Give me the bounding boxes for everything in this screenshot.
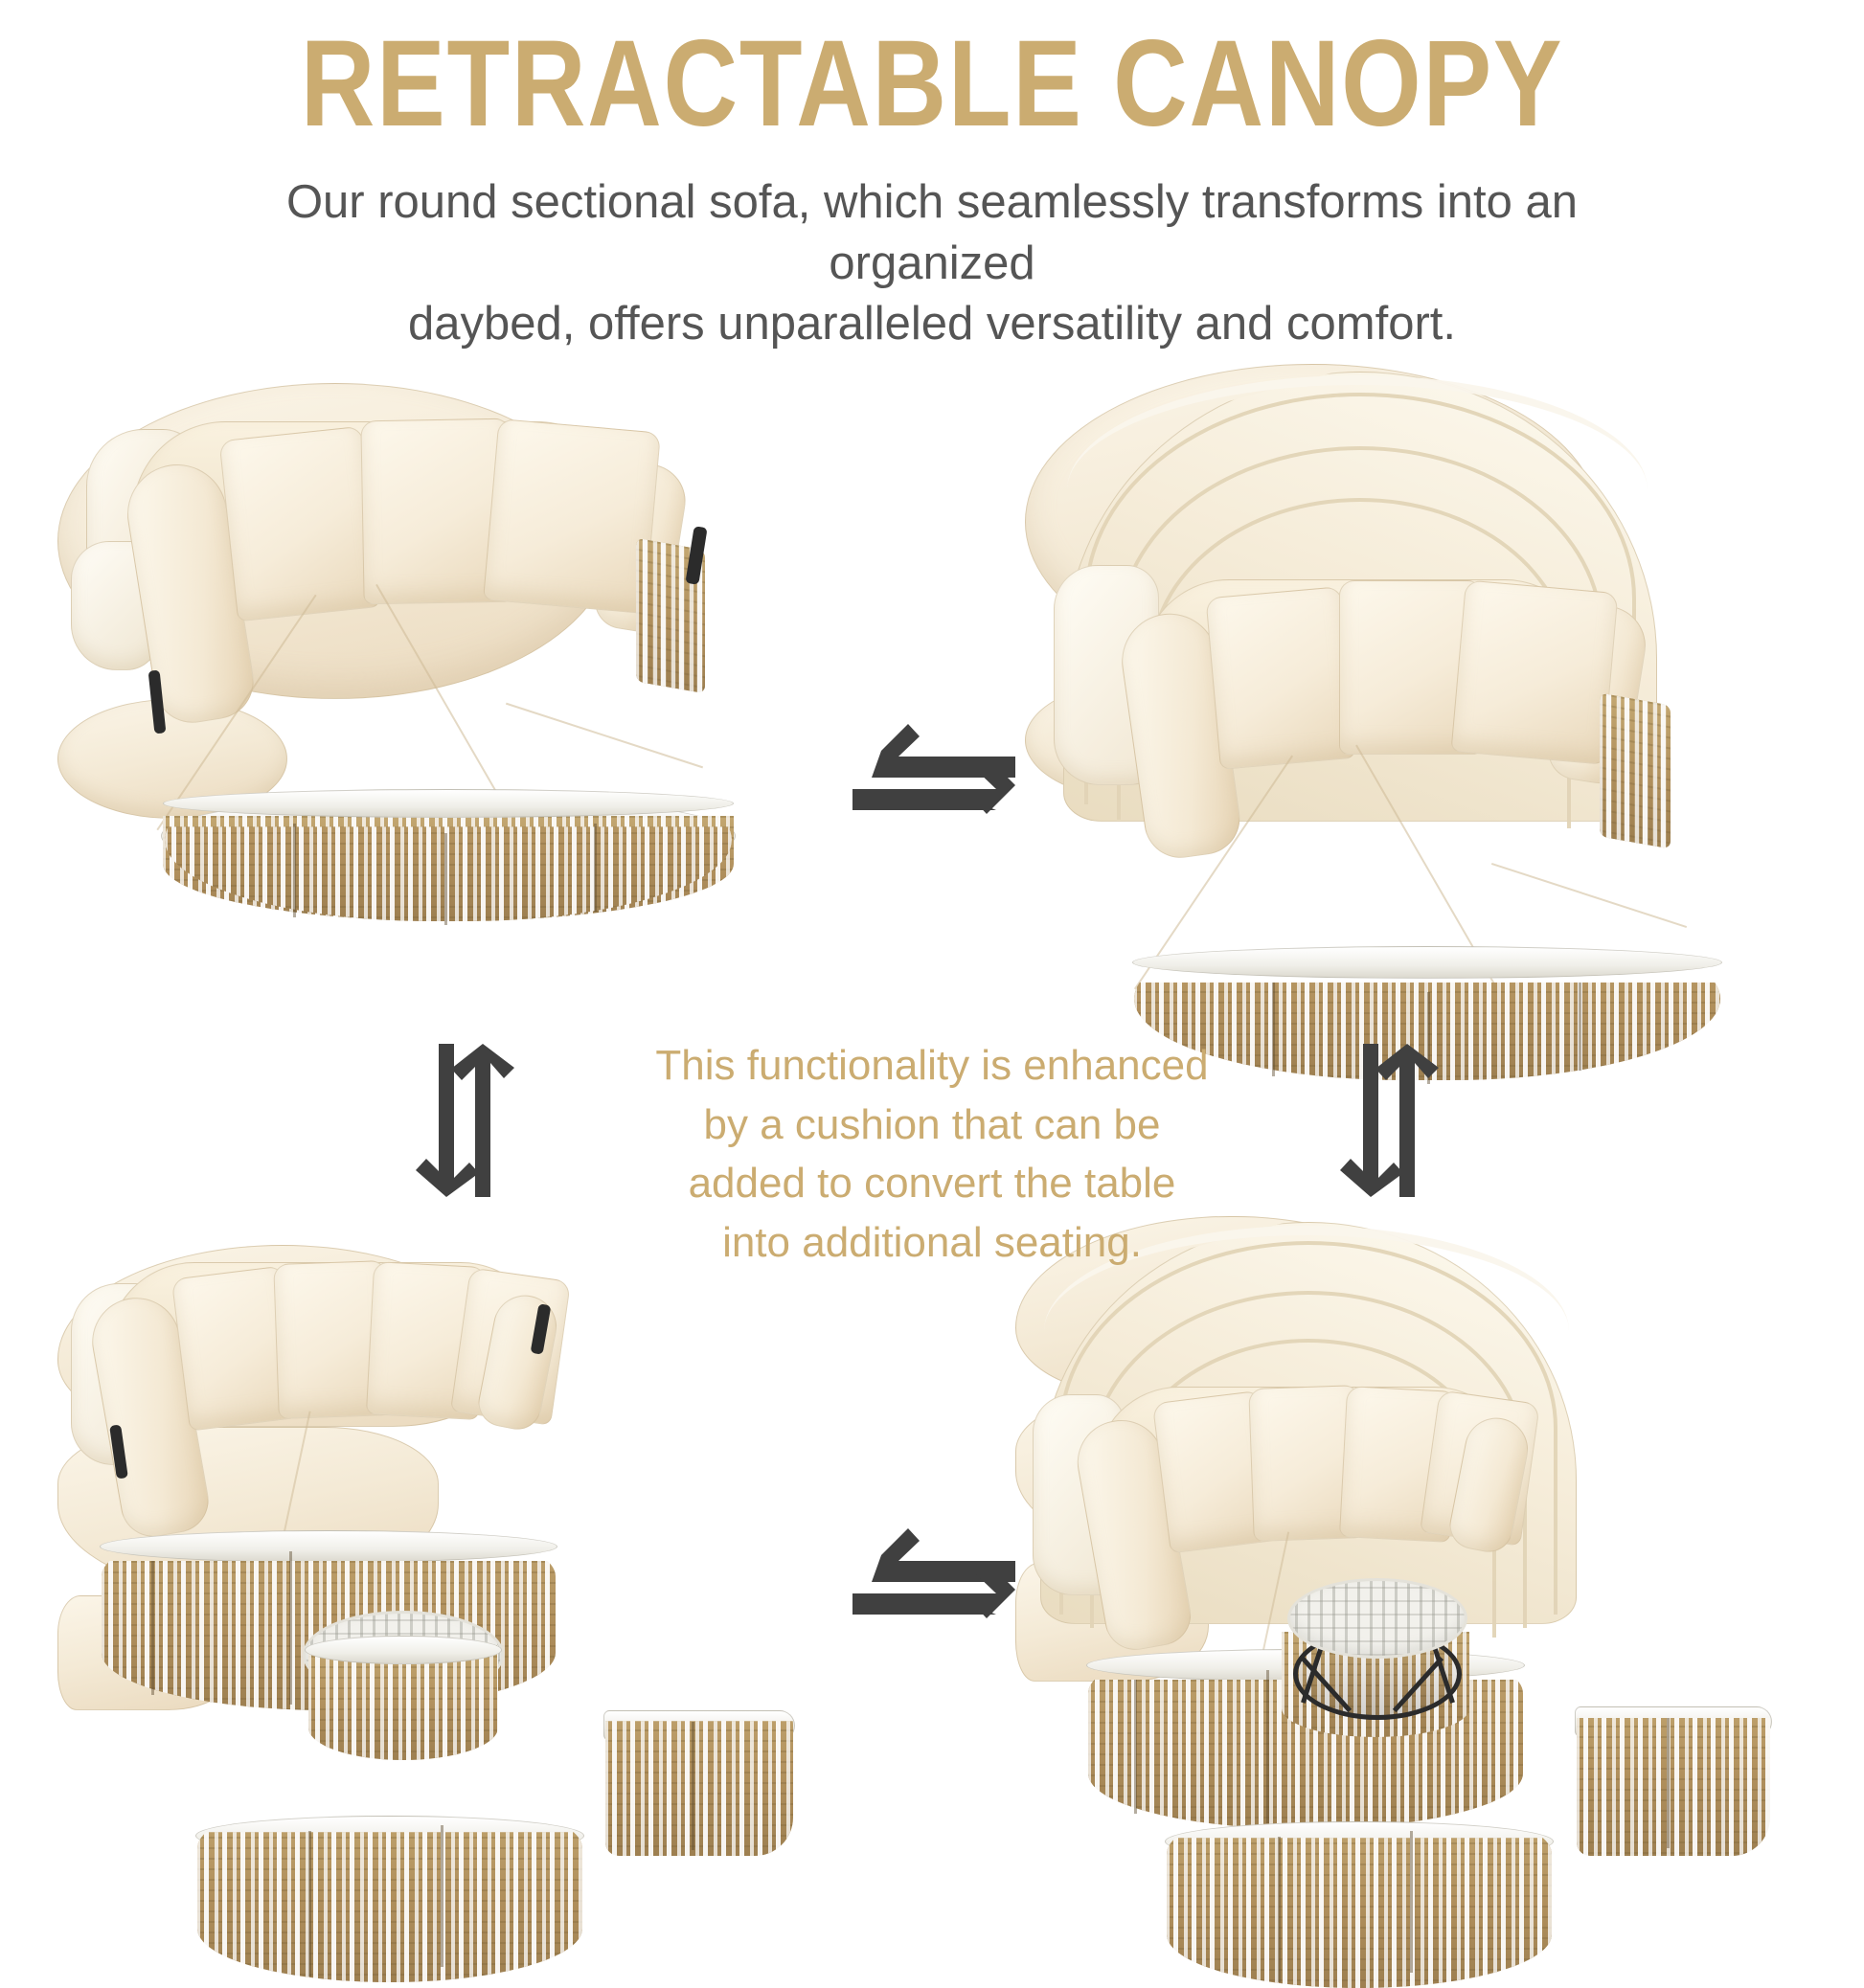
sofa-seam-2 bbox=[1266, 1670, 1269, 1823]
left-right-swap-icon bbox=[852, 1515, 1015, 1639]
subtitle-line-1: Our round sectional sofa, which seamless… bbox=[201, 172, 1663, 294]
center-caption-line-4: into additional seating. bbox=[549, 1213, 1315, 1273]
left-right-swap-icon bbox=[852, 711, 1015, 825]
sofa-seam-1 bbox=[151, 1561, 154, 1695]
header: RETRACTABLE CANOPY Our round sectional s… bbox=[0, 0, 1864, 355]
seat-section-divider-c bbox=[1491, 863, 1687, 928]
throw-pillow-3 bbox=[483, 418, 661, 614]
base-rail-top bbox=[1132, 946, 1722, 979]
sectional-separated-extended-illustration bbox=[1015, 1216, 1830, 1829]
ottoman-seam-1 bbox=[1278, 1837, 1281, 1982]
subtitle-line-2: daybed, offers unparalleled versatility … bbox=[201, 294, 1663, 355]
sectional-separated-retracted-illustration bbox=[57, 1245, 843, 1819]
page-subtitle: Our round sectional sofa, which seamless… bbox=[0, 172, 1864, 355]
product-panel-top-left bbox=[57, 383, 843, 919]
product-panel-top-right bbox=[1025, 364, 1830, 929]
sofa-seam-2 bbox=[289, 1551, 292, 1705]
page-title: RETRACTABLE CANOPY bbox=[149, 0, 1716, 146]
throw-pillow-1 bbox=[1205, 586, 1355, 770]
product-panel-bottom-left bbox=[57, 1245, 843, 1819]
center-caption-line-3: added to convert the table bbox=[549, 1154, 1315, 1213]
sofa-seam-1 bbox=[1134, 1680, 1137, 1814]
daybed-canopy-retracted-illustration bbox=[57, 383, 843, 919]
ottoman-seam-2 bbox=[1410, 1831, 1413, 1973]
up-down-swap-icon bbox=[412, 1044, 517, 1197]
ottoman-seam-2 bbox=[441, 1825, 443, 1967]
wicker-seam-3 bbox=[594, 824, 597, 912]
round-table-top bbox=[1287, 1578, 1467, 1659]
wicker-seam-2 bbox=[444, 833, 447, 925]
sofa-base-rail bbox=[100, 1530, 557, 1563]
ottoman-seam-1 bbox=[308, 1831, 311, 1977]
throw-pillow-1 bbox=[218, 426, 380, 622]
daybed-canopy-extended-illustration bbox=[1025, 364, 1830, 929]
side-ottoman-seam bbox=[1667, 1718, 1670, 1848]
seat-section-divider-c bbox=[506, 703, 703, 769]
center-caption-line-2: by a cushion that can be bbox=[549, 1096, 1315, 1155]
product-panel-bottom-right bbox=[1015, 1216, 1830, 1829]
wicker-seam-3 bbox=[1579, 983, 1581, 1071]
base-rail-top bbox=[163, 789, 734, 818]
center-caption-line-1: This functionality is enhanced bbox=[549, 1036, 1315, 1096]
side-ottoman-seam bbox=[692, 1722, 694, 1850]
center-caption: This functionality is enhanced by a cush… bbox=[549, 1036, 1315, 1272]
throw-pillow-3 bbox=[1450, 579, 1618, 764]
backrest-wicker-panel bbox=[1600, 692, 1671, 848]
up-down-swap-icon bbox=[1336, 1044, 1442, 1197]
wicker-seam-1 bbox=[293, 824, 296, 917]
round-table-rim bbox=[305, 1636, 502, 1664]
